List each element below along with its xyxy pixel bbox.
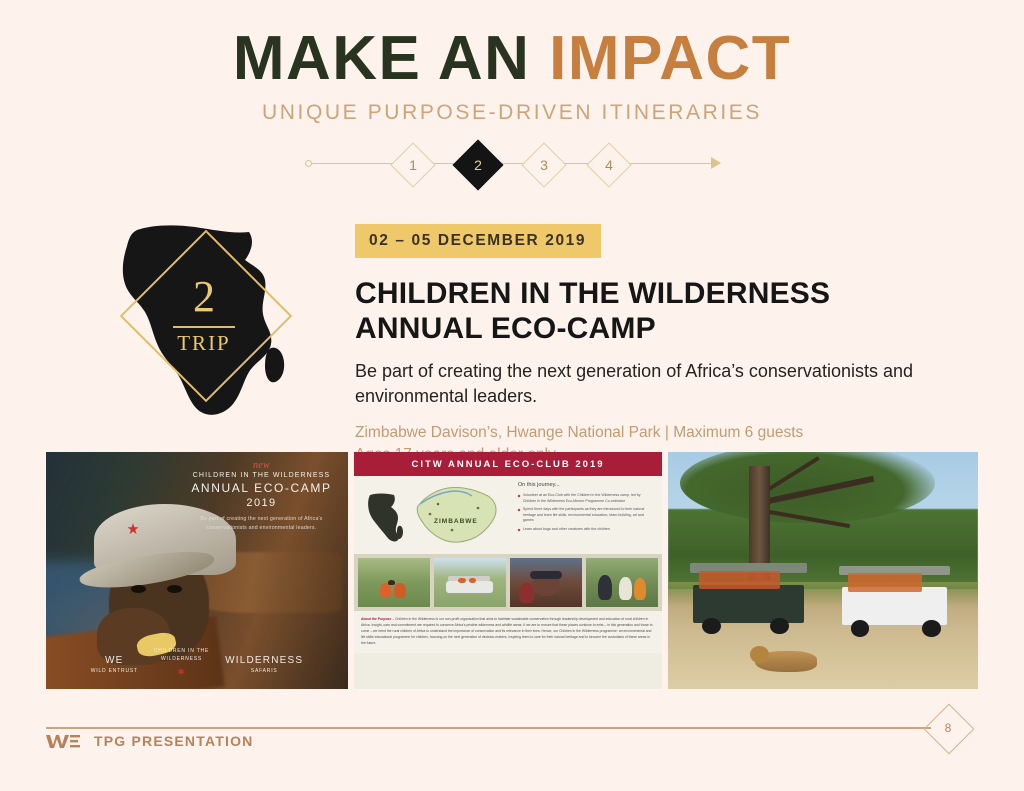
safari-vehicle-right-wheel — [922, 620, 941, 637]
safari-vehicle-left-wheel — [702, 618, 721, 635]
brochure-upper-section: ZIMBABWE On this journey... Volunteer at… — [354, 476, 662, 554]
stepper-start-dot-icon — [305, 160, 312, 167]
africa-trip-badge: 2 TRIP — [103, 222, 313, 422]
stepper-step-4[interactable]: 4 — [586, 142, 631, 187]
brochure-footer-body: – Children in the Wilderness is our non-… — [361, 617, 653, 645]
safari-vehicle-right-wheel — [851, 620, 870, 637]
flyer-logo3-sub: SAFARIS — [225, 668, 303, 676]
trip-number: 2 — [193, 275, 215, 319]
page-subtitle: UNIQUE PURPOSE-DRIVEN ITINERARIES — [0, 101, 1024, 125]
trip-stepper: 1 2 3 4 — [305, 142, 719, 186]
trip-description: Be part of creating the next generation … — [355, 359, 975, 409]
flyer-logo1-sub: WILD ENTRUST — [91, 668, 138, 676]
footer-label: TPG PRESENTATION — [94, 733, 253, 749]
stepper-step-2[interactable]: 2 — [453, 140, 504, 191]
stepper-step-1-label: 1 — [398, 150, 428, 180]
safari-vehicle-left — [693, 585, 805, 623]
brochure-bullet: Volunteer at an Eco-Club with the Childr… — [518, 493, 654, 504]
brochure-footer-label: About the Purpose — [361, 617, 391, 621]
flyer-text-block: new CHILDREN IN THE WILDERNESS ANNUAL EC… — [180, 460, 343, 533]
brochure-journey-title: On this journey... — [518, 482, 654, 488]
image-strip: new CHILDREN IN THE WILDERNESS ANNUAL EC… — [46, 452, 978, 689]
flyer-logo2-main: CHILDREN IN THE — [154, 648, 209, 656]
date-badge: 02 – 05 DECEMBER 2019 — [355, 224, 601, 258]
trip-details: 02 – 05 DECEMBER 2019 CHILDREN IN THE WI… — [355, 224, 975, 467]
stepper-step-2-label: 2 — [461, 148, 495, 182]
page-number: 8 — [931, 711, 965, 745]
brochure-maps: ZIMBABWE — [362, 482, 514, 554]
slide-header: MAKE AN IMPACT UNIQUE PURPOSE-DRIVEN ITI… — [0, 26, 1024, 125]
brochure-footer-text: About the Purpose – Children in the Wild… — [354, 611, 662, 653]
stepper-arrow-icon — [711, 157, 721, 169]
brochure-journey-list: On this journey... Volunteer at an Eco-C… — [514, 482, 654, 554]
safari-lion-head — [750, 646, 769, 663]
brochure-photo-field-activity — [358, 558, 430, 607]
flyer-logo-citw: CHILDREN IN THE WILDERNESS ✶ — [154, 648, 209, 681]
brochure-africa-icon — [364, 492, 404, 544]
flyer-blurb: Be part of creating the next generation … — [180, 515, 343, 533]
flyer-title: ANNUAL ECO-CAMP — [180, 481, 343, 495]
flyer-logo-wilderness-safaris: WILDERNESS SAFARIS — [225, 653, 303, 676]
flyer-org-name: CHILDREN IN THE WILDERNESS — [180, 472, 343, 479]
trip-word-label: TRIP — [177, 333, 231, 354]
safari-game-drive-image — [668, 452, 978, 689]
flyer-logo2-star-icon: ✶ — [154, 663, 209, 681]
stepper-step-3-label: 3 — [529, 150, 559, 180]
title-part-impact: IMPACT — [549, 24, 791, 93]
flyer-logo-wild-entrust: WE WILD ENTRUST — [91, 653, 138, 676]
brochure-bullet: Learn about bugs and other creatures wit… — [518, 527, 654, 533]
trip-diamond-content: 2 TRIP — [145, 255, 263, 373]
flyer-year: 2019 — [180, 497, 343, 509]
safari-vehicle-left-guests — [699, 571, 780, 590]
brochure-bullet: Spend three days with the participants a… — [518, 507, 654, 524]
trip-location-line: Zimbabwe Davison’s, Hwange National Park… — [355, 424, 803, 441]
stepper-step-3[interactable]: 3 — [521, 142, 566, 187]
flyer-logo3-main: WILDERNESS — [225, 653, 303, 668]
trip-headline: CHILDREN IN THE WILDERNESS ANNUAL ECO-CA… — [355, 276, 975, 346]
brochure-photo-binoculars — [510, 558, 582, 607]
brochure-map-label: ZIMBABWE — [434, 518, 478, 525]
brochure-zimbabwe-map-icon — [408, 484, 504, 550]
we-logo-icon — [46, 734, 80, 749]
safari-vehicle-right-guests — [848, 573, 922, 592]
trip-divider — [173, 326, 235, 328]
flyer-child-eye-left — [131, 585, 146, 593]
stepper-line — [310, 163, 714, 164]
brochure-photo-vehicle — [434, 558, 506, 607]
trip-headline-line-2: ANNUAL ECO-CAMP — [355, 312, 656, 345]
title-part-make-an: MAKE AN — [233, 24, 531, 93]
slide-footer: TPG PRESENTATION — [46, 733, 253, 749]
flyer-logo1-main: WE — [91, 653, 138, 668]
flyer-logo2-sub: WILDERNESS — [154, 656, 209, 664]
brochure-header: CITW ANNUAL ECO-CLUB 2019 — [354, 452, 662, 476]
flyer-logo-row: WE WILD ENTRUST CHILDREN IN THE WILDERNE… — [46, 648, 348, 681]
page-title: MAKE AN IMPACT — [0, 26, 1024, 91]
stepper-step-4-label: 4 — [594, 150, 624, 180]
citw-brochure-image: CITW ANNUAL ECO-CLUB 2019 — [354, 452, 662, 689]
trip-headline-line-1: CHILDREN IN THE WILDERNESS — [355, 277, 830, 310]
eco-camp-flyer-image: new CHILDREN IN THE WILDERNESS ANNUAL EC… — [46, 452, 348, 689]
footer-divider — [46, 727, 931, 729]
flyer-child-eye-right — [167, 585, 182, 593]
flyer-new-tag: new — [180, 460, 343, 471]
presentation-slide: MAKE AN IMPACT UNIQUE PURPOSE-DRIVEN ITI… — [0, 0, 1024, 791]
brochure-photo-row — [354, 554, 662, 611]
brochure-photo-children — [586, 558, 658, 607]
stepper-step-1[interactable]: 1 — [390, 142, 435, 187]
